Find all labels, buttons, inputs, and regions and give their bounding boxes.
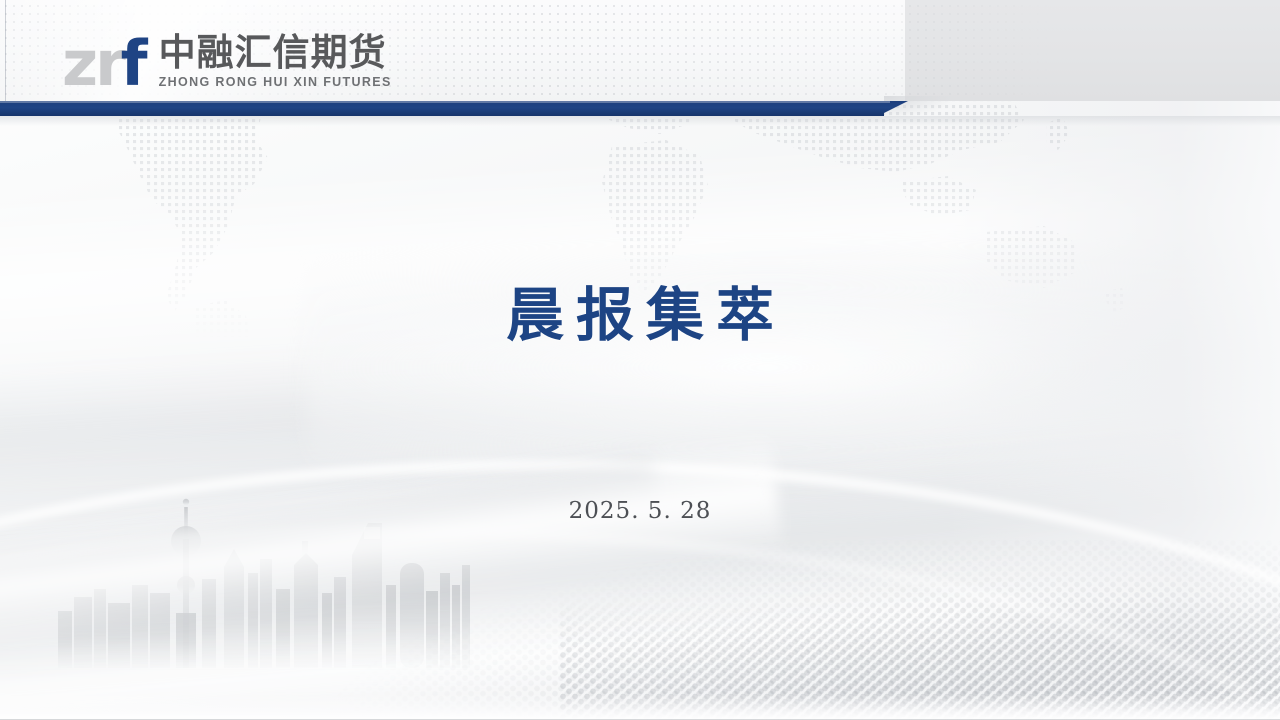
logo-monogram-f: f	[121, 37, 145, 90]
page-title-text: 晨报集萃	[0, 283, 1280, 348]
slide-date: 2025. 5. 28	[0, 498, 1280, 524]
company-logo: zrf 中融汇信期货 ZHONG RONG HUI XIN FUTURES	[62, 28, 392, 90]
logo-name-cn: 中融汇信期货	[159, 34, 392, 72]
logo-monogram-icon: zrf	[62, 37, 145, 90]
header-under-shadow	[0, 116, 1280, 126]
slide-date-text: 2025. 5. 28	[0, 498, 1280, 524]
header-left-edge-line	[5, 0, 6, 101]
title-slide: zrf 中融汇信期货 ZHONG RONG HUI XIN FUTURES	[0, 0, 1280, 720]
logo-monogram-zr: zr	[62, 37, 123, 90]
header-navy-rule-highlight	[0, 101, 890, 103]
page-title: 晨报集萃	[0, 283, 1280, 348]
logo-name-en: ZHONG RONG HUI XIN FUTURES	[159, 76, 392, 89]
bottom-fade	[0, 694, 1280, 720]
logo-wordmark: 中融汇信期货 ZHONG RONG HUI XIN FUTURES	[159, 34, 392, 90]
header-navy-rule	[0, 101, 884, 116]
